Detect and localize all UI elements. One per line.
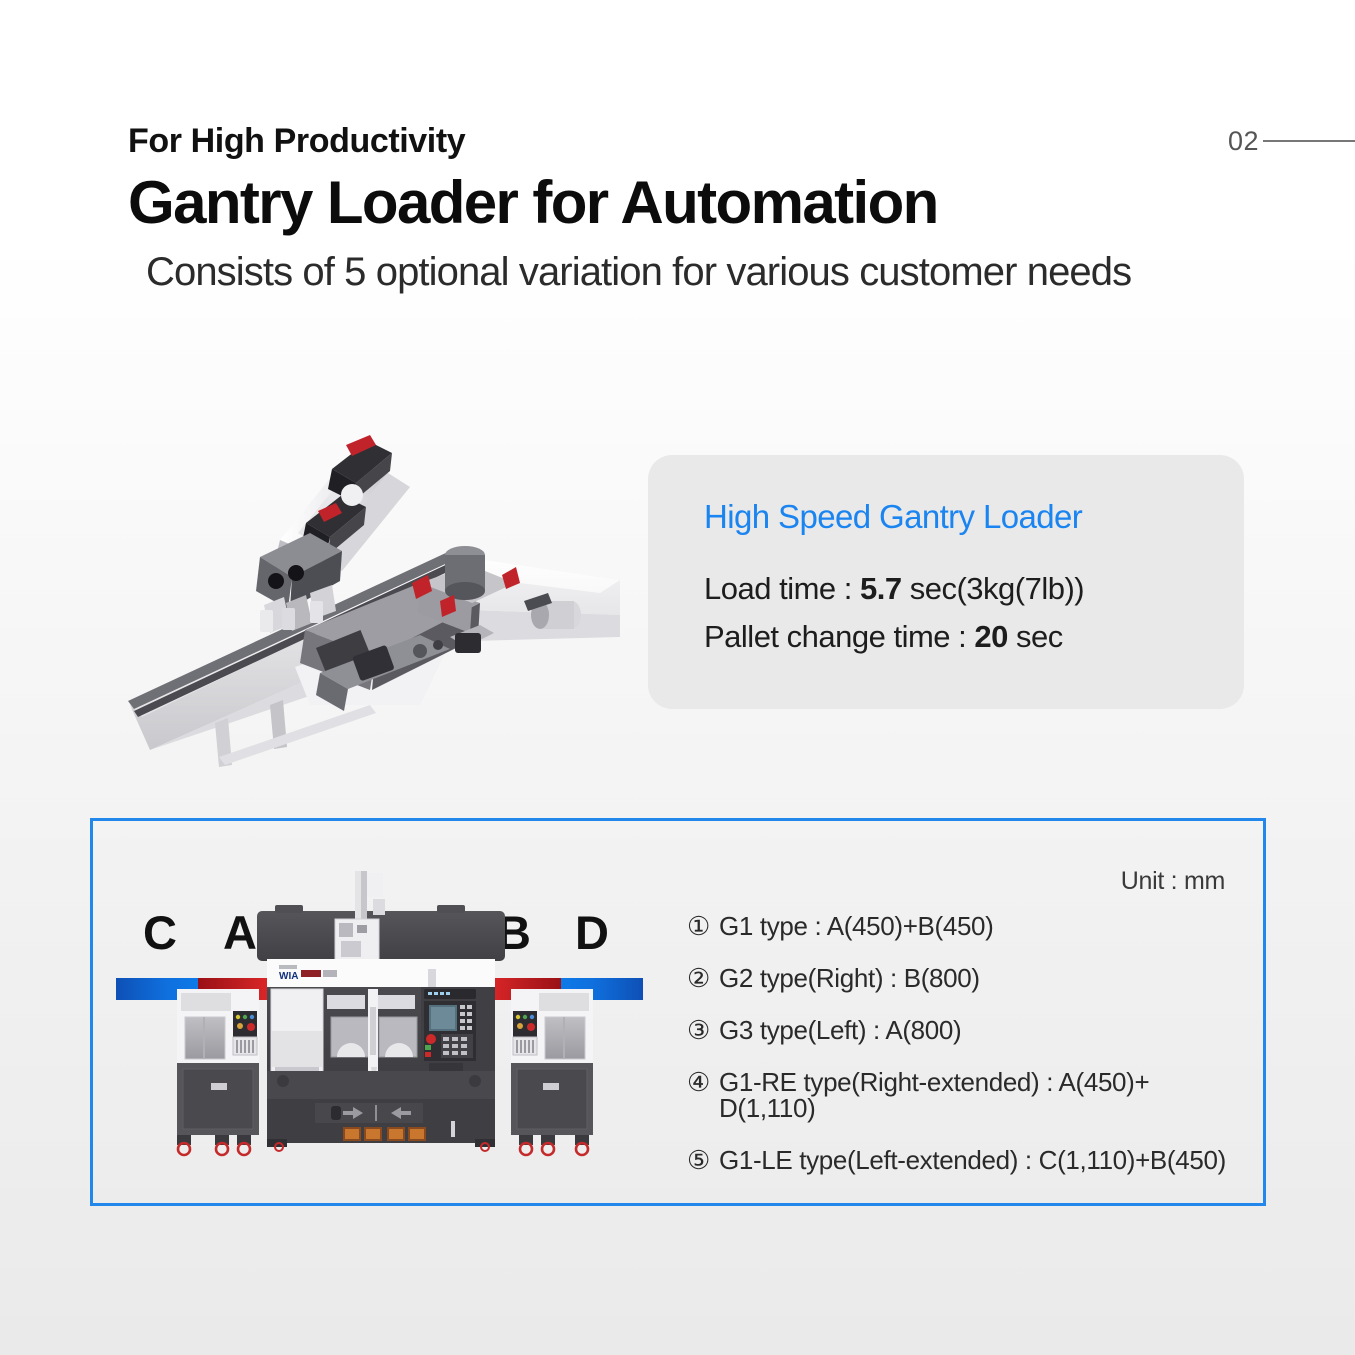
spec-pallet-change-time: Pallet change time : 20 sec bbox=[704, 613, 1244, 661]
spec-load-time-value: 5.7 bbox=[860, 571, 902, 606]
page-number-rule bbox=[1263, 140, 1355, 142]
list-item-number: ① bbox=[687, 913, 710, 939]
list-item-label: G3 type(Left) : A(800) bbox=[719, 1017, 961, 1043]
page-title: Gantry Loader for Automation bbox=[128, 169, 1268, 236]
spec-card-title: High Speed Gantry Loader bbox=[704, 499, 1244, 535]
list-item-label: G1 type : A(450)+B(450) bbox=[719, 913, 994, 939]
variation-panel: Unit : mm C A B D bbox=[90, 818, 1266, 1206]
spec-load-time: Load time : 5.7 sec(3kg(7lb)) bbox=[704, 565, 1244, 613]
list-item: ⑤ G1-LE type(Left-extended) : C(1,110)+B… bbox=[687, 1147, 1247, 1173]
list-item-number: ② bbox=[687, 965, 710, 991]
unit-label: Unit : mm bbox=[1121, 867, 1225, 896]
header-subtitle: Consists of 5 optional variation for var… bbox=[146, 248, 1268, 296]
list-item-label: G2 type(Right) : B(800) bbox=[719, 965, 980, 991]
dimension-letter-c: C bbox=[143, 909, 177, 956]
spec-card: High Speed Gantry Loader Load time : 5.7… bbox=[648, 455, 1244, 709]
list-item-number: ④ bbox=[687, 1069, 710, 1095]
svg-text:WIA: WIA bbox=[279, 971, 298, 982]
list-item: ② G2 type(Right) : B(800) bbox=[687, 965, 1247, 991]
header-eyebrow: For High Productivity bbox=[128, 122, 1268, 161]
spec-pallet-suffix: sec bbox=[1008, 619, 1063, 654]
list-item: ③ G3 type(Left) : A(800) bbox=[687, 1017, 1247, 1043]
gantry-loader-photo bbox=[120, 405, 630, 770]
spec-load-time-label: Load time : bbox=[704, 571, 860, 606]
list-item-number: ③ bbox=[687, 1017, 710, 1043]
left-stacker-unit bbox=[177, 989, 259, 1155]
spec-pallet-value: 20 bbox=[974, 619, 1007, 654]
machine-base bbox=[267, 1071, 495, 1151]
list-item-label: G1-RE type(Right-extended) : A(450)+ D(1… bbox=[719, 1069, 1247, 1121]
list-item: ④ G1-RE type(Right-extended) : A(450)+ D… bbox=[687, 1069, 1247, 1121]
spec-load-time-suffix: sec(3kg(7lb)) bbox=[902, 571, 1085, 606]
list-item-label: G1-LE type(Left-extended) : C(1,110)+B(4… bbox=[719, 1147, 1226, 1173]
cnc-machine-illustration: WIA bbox=[175, 871, 595, 1171]
page-header: For High Productivity Gantry Loader for … bbox=[128, 122, 1268, 296]
list-item-number: ⑤ bbox=[687, 1147, 710, 1173]
variation-type-list: ① G1 type : A(450)+B(450) ② G2 type(Righ… bbox=[687, 913, 1247, 1199]
list-item: ① G1 type : A(450)+B(450) bbox=[687, 913, 1247, 939]
right-stacker-unit bbox=[511, 989, 593, 1155]
gantry-mast bbox=[335, 871, 385, 967]
machine-dimension-diagram: C A B D bbox=[111, 871, 681, 1191]
spec-pallet-label: Pallet change time : bbox=[704, 619, 974, 654]
